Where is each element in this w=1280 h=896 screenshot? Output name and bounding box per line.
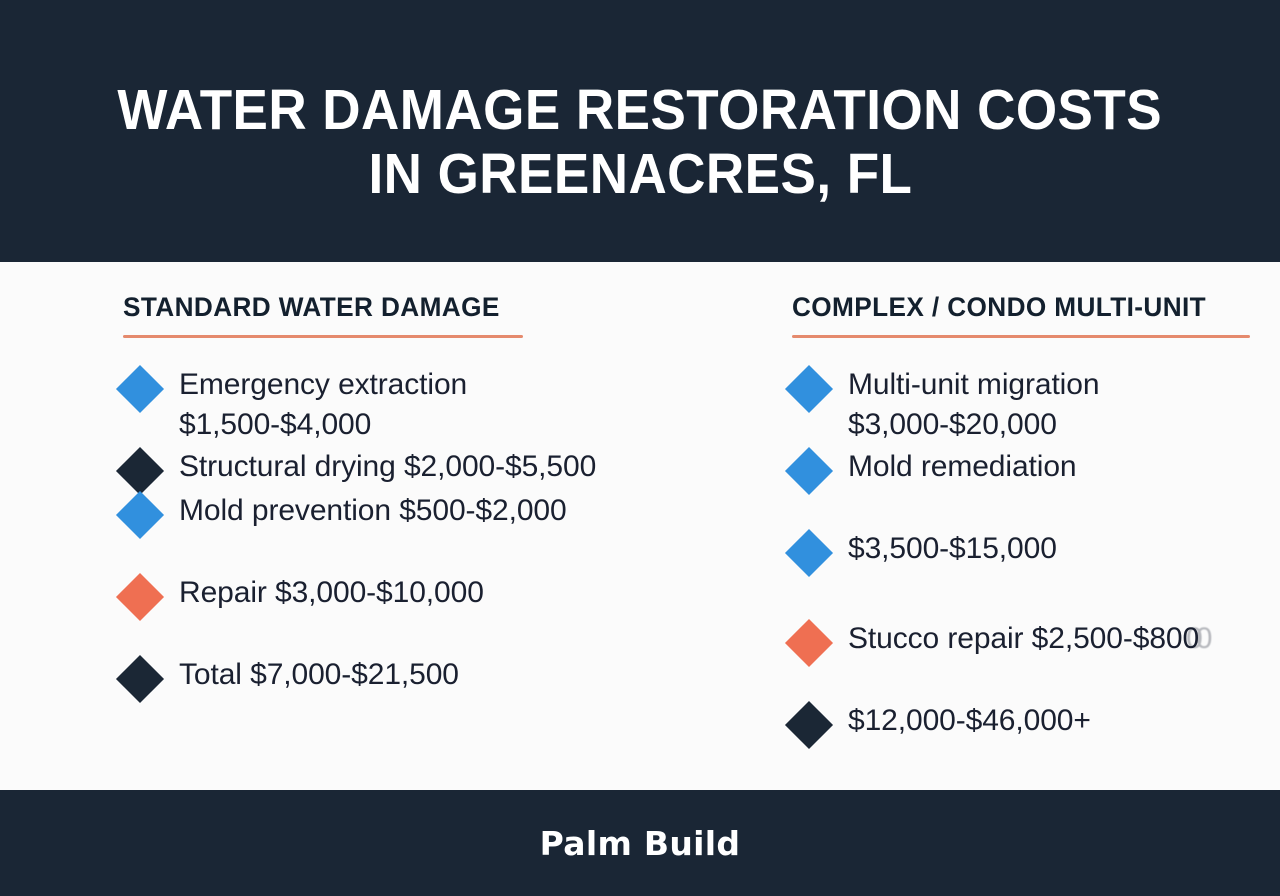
list-item-label-main: Stucco repair $2,500-$800	[848, 622, 1199, 655]
list-item-label: $3,500-$15,000	[848, 528, 1057, 569]
list-item: $3,500-$15,000	[792, 528, 1250, 570]
list-item-label-faded-tail: 00	[1186, 622, 1205, 655]
list-item-label: Mold remediation	[848, 446, 1077, 487]
list-item-label: $12,000-$46,000+	[848, 700, 1091, 741]
footer-band: Palm Build	[0, 790, 1280, 896]
column-divider-complex	[792, 335, 1250, 338]
content-area: STANDARD WATER DAMAGE Emergency extracti…	[0, 262, 1280, 790]
list-item-label: Stucco repair $2,500-$80000	[848, 618, 1205, 659]
cost-list-complex: Multi-unit migration $3,000-$20,000 Mold…	[792, 364, 1250, 742]
diamond-bullet-icon	[785, 365, 833, 413]
list-item: Multi-unit migration $3,000-$20,000	[792, 364, 1250, 444]
diamond-bullet-icon	[785, 447, 833, 495]
page-title-line-2: IN GREENACRES, FL	[368, 142, 912, 206]
list-item: Stucco repair $2,500-$80000	[792, 618, 1250, 660]
header-band: WATER DAMAGE RESTORATION COSTS IN GREENA…	[0, 0, 1280, 262]
list-item-label: Multi-unit migration $3,000-$20,000	[848, 364, 1250, 444]
list-item: Mold remediation	[792, 446, 1250, 488]
list-item: $12,000-$46,000+	[792, 700, 1250, 742]
page-title-line-1: WATER DAMAGE RESTORATION COSTS	[118, 78, 1163, 142]
brand-name: Palm Build	[540, 824, 741, 863]
column-heading-standard: STANDARD WATER DAMAGE	[123, 292, 623, 323]
column-heading-complex: COMPLEX / CONDO MULTI-UNIT	[792, 292, 1236, 323]
diamond-bullet-icon	[785, 529, 833, 577]
infographic-canvas: WATER DAMAGE RESTORATION COSTS IN GREENA…	[0, 0, 1280, 896]
column-complex-condo-multi-unit: COMPLEX / CONDO MULTI-UNIT Multi-unit mi…	[85, 292, 1280, 790]
diamond-bullet-icon	[785, 701, 833, 749]
diamond-bullet-icon	[785, 619, 833, 667]
